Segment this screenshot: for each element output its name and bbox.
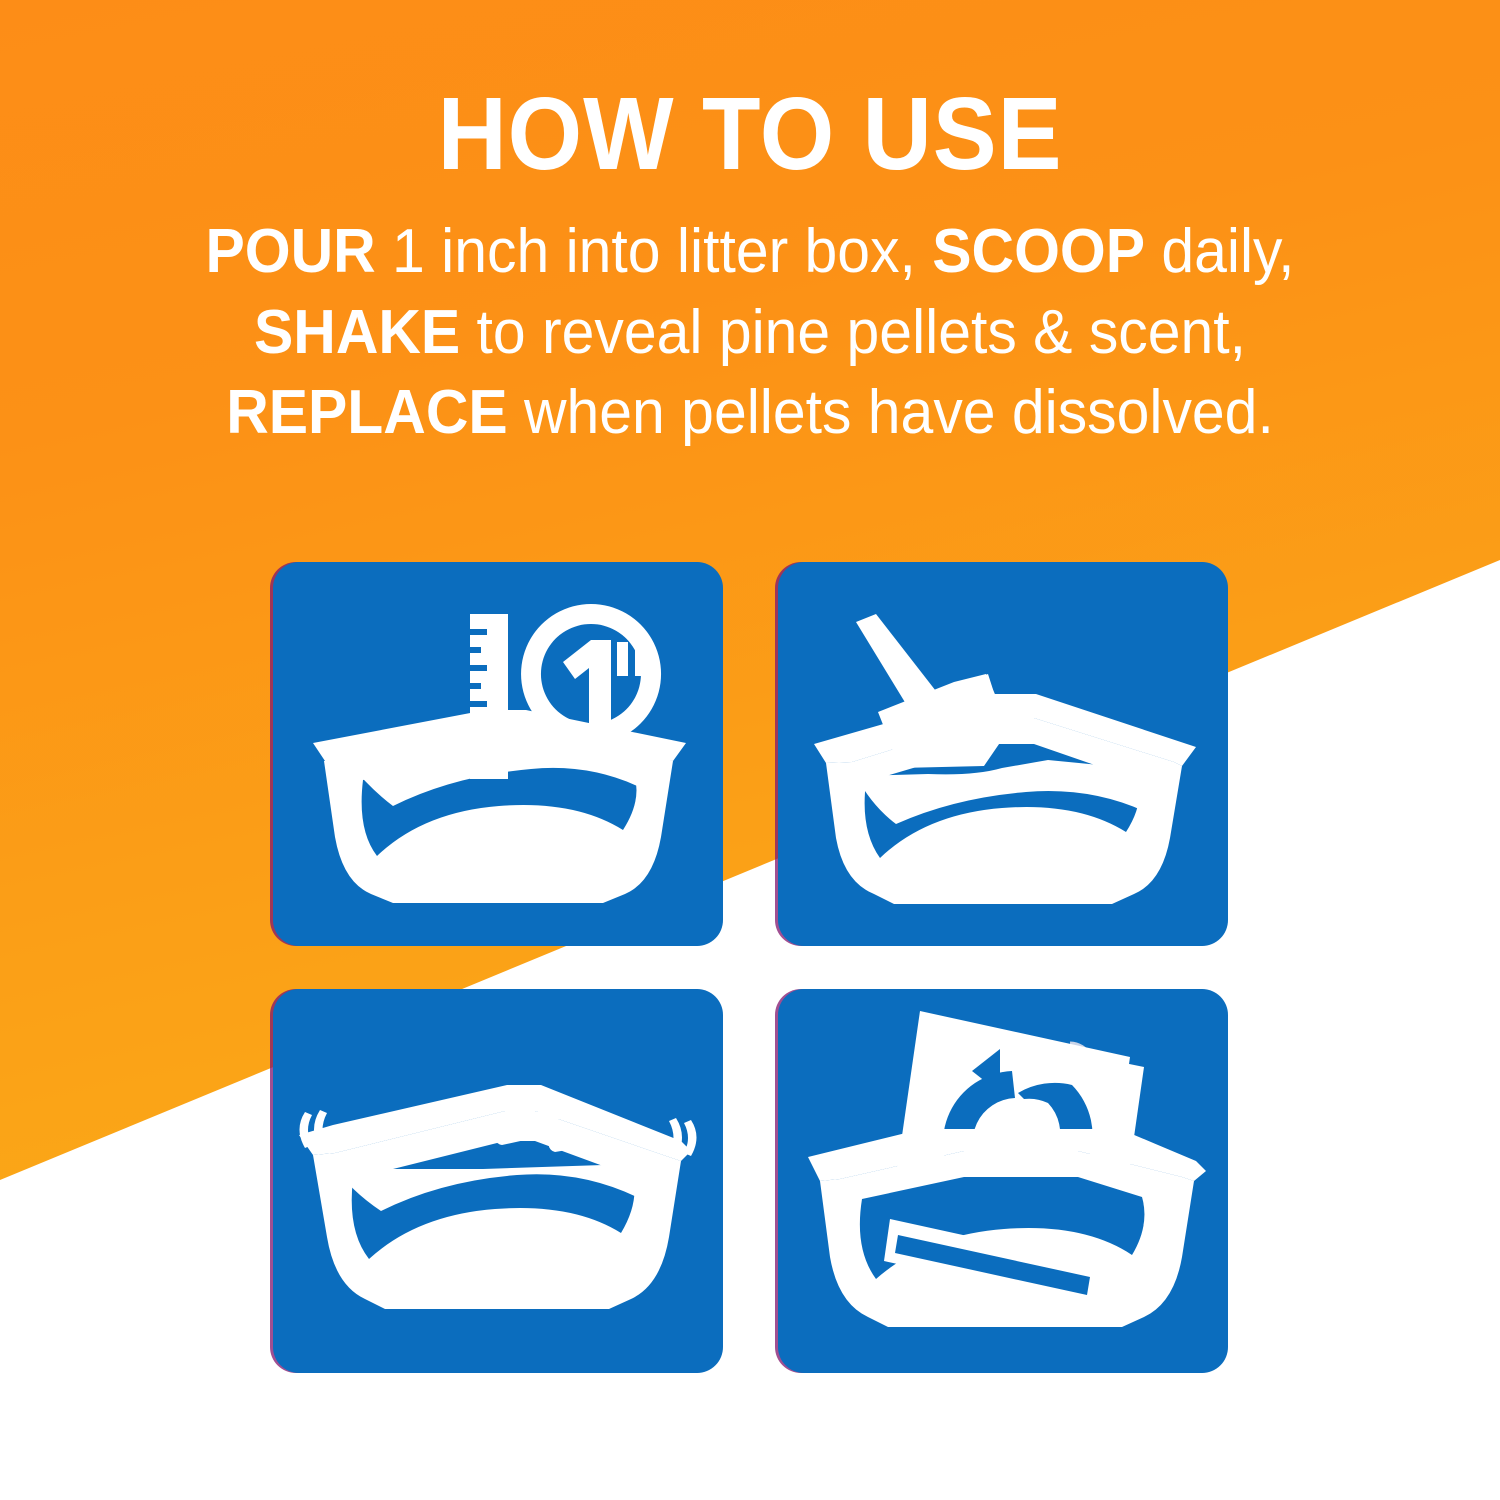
- scoop-keyword: SCOOP: [932, 217, 1145, 286]
- shake-detail: to reveal pine pellets & scent,: [460, 298, 1246, 367]
- instructions-line-1: POUR 1 inch into litter box, SCOOP daily…: [95, 212, 1406, 293]
- step-tile-replace[interactable]: [778, 989, 1228, 1373]
- pour-keyword: POUR: [206, 217, 376, 286]
- how-to-use-infographic: HOW TO USE POUR 1 inch into litter box, …: [0, 0, 1500, 1500]
- instructions-line-2: SHAKE to reveal pine pellets & scent,: [95, 293, 1406, 374]
- litter-box-with-calendar-refresh-icon: [778, 989, 1228, 1373]
- step-tile-scoop[interactable]: [778, 562, 1228, 946]
- litter-box-shaking-with-pellets-icon: [273, 989, 723, 1373]
- steps-grid: [273, 562, 1228, 1373]
- instructions-text: POUR 1 inch into litter box, SCOOP daily…: [95, 212, 1406, 454]
- scoop-detail: daily,: [1145, 217, 1295, 286]
- litter-box-with-scoop-icon: [778, 562, 1228, 946]
- shake-keyword: SHAKE: [254, 298, 460, 367]
- replace-keyword: REPLACE: [226, 378, 507, 447]
- replace-detail: when pellets have dissolved.: [508, 378, 1274, 447]
- litter-box-with-ruler-icon: [273, 562, 723, 946]
- step-tile-shake[interactable]: [273, 989, 723, 1373]
- page-title: HOW TO USE: [53, 82, 1448, 185]
- pour-detail: 1 inch into litter box,: [376, 217, 933, 286]
- step-tile-pour[interactable]: [273, 562, 723, 946]
- instructions-line-3: REPLACE when pellets have dissolved.: [95, 373, 1406, 454]
